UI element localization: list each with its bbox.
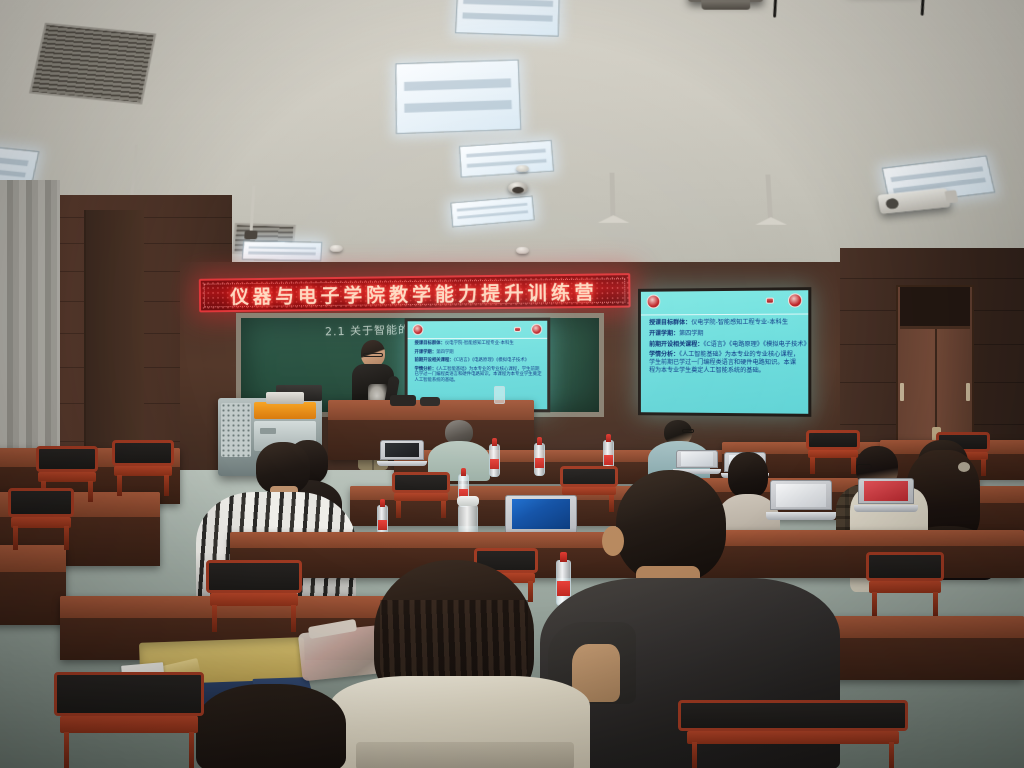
podium-water-glass bbox=[494, 386, 505, 404]
ceiling-light-panel bbox=[459, 140, 554, 178]
lectern-printer-unit bbox=[266, 392, 304, 404]
laptop-screen bbox=[858, 478, 914, 504]
lectern-label bbox=[260, 428, 276, 434]
attendee-leftmost-foreground bbox=[196, 684, 356, 768]
lectern-orange-panel bbox=[254, 402, 316, 419]
projector-lens bbox=[885, 198, 900, 210]
speaker-ceiling-mount bbox=[610, 173, 616, 216]
attendee-ear bbox=[602, 526, 624, 556]
chair-foreground-right[interactable] bbox=[678, 700, 908, 768]
smoke-detector bbox=[516, 165, 529, 172]
university-logo-icon bbox=[413, 324, 424, 335]
slide-line: 开课学期：第四学期 bbox=[649, 330, 801, 338]
attendee-top-fold bbox=[356, 742, 574, 768]
slide-header bbox=[641, 290, 808, 316]
laptop-keyboard[interactable] bbox=[377, 461, 427, 466]
slide-line: 前期开设相关课程：《C语言》《电路原理》《模拟电子技术》 bbox=[414, 358, 541, 364]
chair-foreground-left[interactable] bbox=[54, 672, 204, 768]
classroom-photo-scene: 仪器与电子学院教学能力提升训练营 2.1 关于智能的认知 授课目标群体：仪电学院… bbox=[0, 0, 1024, 768]
chair-left-empty[interactable] bbox=[112, 440, 174, 496]
attendee-cream-top-foreground bbox=[330, 560, 590, 768]
air-vent bbox=[29, 23, 156, 105]
ceiling-light-panel bbox=[395, 59, 521, 133]
ceiling-light-panel bbox=[242, 240, 323, 261]
slide-header-mark bbox=[514, 327, 521, 332]
laptop-keyboard[interactable] bbox=[854, 505, 918, 512]
slide-line: 授课目标群体：仪电学院-智能感知工程专业-本科生 bbox=[649, 319, 801, 327]
laptop-screen bbox=[676, 450, 718, 468]
podium-table-object bbox=[390, 395, 416, 406]
slide-line: 授课目标群体：仪电学院-智能感知工程专业-本科生 bbox=[414, 341, 541, 347]
dome-security-camera bbox=[508, 182, 528, 193]
slide-header-mark bbox=[766, 298, 774, 304]
attendee-hair-tie bbox=[958, 462, 970, 472]
chair-row-3-right[interactable] bbox=[866, 552, 944, 616]
attendee-glasses-icon bbox=[682, 429, 694, 433]
slide-line: 开课学期：第四学期 bbox=[414, 350, 541, 356]
led-scrolling-banner: 仪器与电子学院教学能力提升训练营 bbox=[199, 273, 631, 312]
desk-left-empty bbox=[0, 545, 66, 625]
slide-header bbox=[408, 321, 548, 339]
slide-body: 授课目标群体：仪电学院-智能感知工程专业-本科生 开课学期：第四学期 前期开设相… bbox=[414, 341, 541, 386]
laptop-left-back[interactable] bbox=[380, 440, 424, 466]
podium-table-object bbox=[420, 397, 440, 406]
chair-left-empty[interactable] bbox=[8, 488, 74, 550]
projection-screen-right: 授课目标群体：仪电学院-智能感知工程专业-本科生 开课学期：第四学期 前期开设相… bbox=[638, 287, 811, 417]
attendee-grey-shirt-centre bbox=[428, 420, 490, 478]
chair-mid-right[interactable] bbox=[206, 560, 302, 632]
university-logo-icon bbox=[647, 295, 661, 309]
laptop-screen bbox=[380, 440, 424, 460]
chair-row-2[interactable] bbox=[392, 472, 450, 518]
slide-line: 学情分析：《人工智能基础》为本专业的专业核心课程，学生前期已学过一门编程类语言和… bbox=[414, 367, 541, 384]
slide-body: 授课目标群体：仪电学院-智能感知工程专业-本科生 开课学期：第四学期 前期开设相… bbox=[649, 319, 801, 378]
laptop-right-mid[interactable] bbox=[858, 478, 914, 512]
door-hinge-icon bbox=[966, 383, 970, 401]
ceiling-projector bbox=[687, 0, 763, 2]
university-logo-icon bbox=[531, 324, 542, 335]
water-bottle[interactable] bbox=[489, 444, 500, 477]
slide-line: 前期开设相关课程：《C语言》《电路原理》《模拟电子技术》 bbox=[649, 340, 801, 348]
attendee-hair bbox=[196, 684, 346, 768]
smoke-detector bbox=[516, 247, 529, 254]
smoke-detector bbox=[330, 245, 343, 252]
banner-text: 仪器与电子学院教学能力提升训练营 bbox=[201, 275, 629, 310]
door-hinge-icon bbox=[900, 383, 904, 401]
slide-line: 学情分析：《人工智能基础》为本专业的专业核心课程，学生前期已学过一门编程类语言和… bbox=[649, 351, 801, 375]
door-transom-window bbox=[900, 287, 970, 329]
presenter-glasses-icon bbox=[363, 353, 383, 357]
university-logo-icon bbox=[788, 293, 802, 307]
ceiling-light-panel bbox=[455, 0, 560, 37]
